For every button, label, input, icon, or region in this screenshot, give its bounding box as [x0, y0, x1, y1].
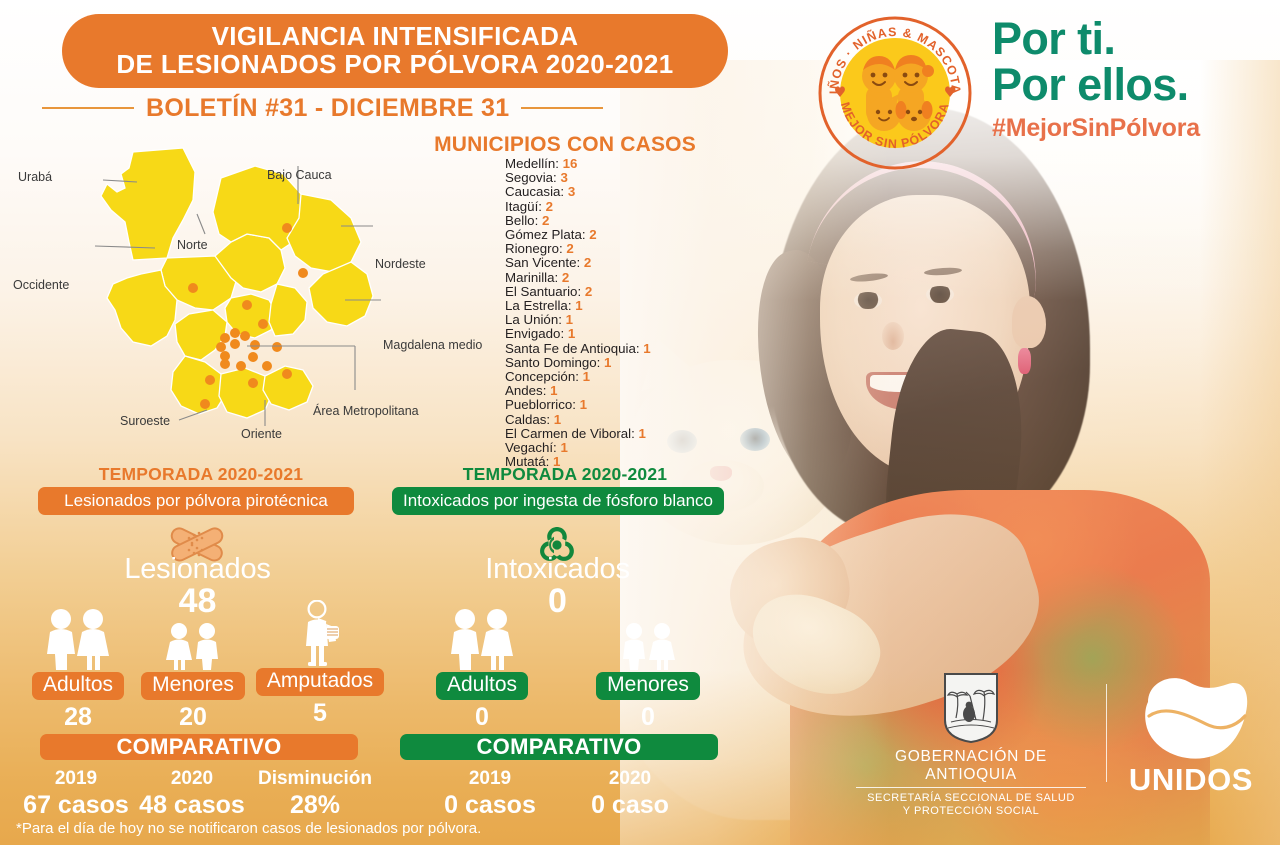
gobernacion-subtitle: SECRETARÍA SECCIONAL DE SALUD Y PROTECCI… [856, 792, 1086, 818]
poisoned-adults-label: Adultos [436, 672, 528, 700]
municipality-name: El Carmen de Viboral: [505, 426, 639, 441]
poisoned-category-minors: Menores 0 [590, 608, 706, 732]
municipality-case-count: 2 [585, 284, 592, 299]
municipality-name: La Estrella: [505, 298, 575, 313]
injured-amputees-value: 5 [255, 699, 385, 728]
gobernacion-subtitle-line2: Y PROTECCIÓN SOCIAL [856, 805, 1086, 818]
poisoned-comparative-2020: 2020 0 caso [560, 768, 700, 820]
footer-divider [1106, 684, 1107, 782]
map-label-uraba: Urabá [18, 170, 52, 184]
poisoned-comp-value-2020: 0 caso [560, 791, 700, 820]
poisoned-category-adults: Adultos 0 [424, 608, 540, 732]
municipality-case-count: 2 [566, 241, 573, 256]
municipalities-list: Medellín: 16Segovia: 3Caucasia: 3Itagüí:… [505, 157, 845, 469]
municipality-name: Rionegro: [505, 241, 566, 256]
bulletin-rule-left [42, 107, 134, 109]
injured-comparative-table: 2019 67 casos 2020 48 casos Disminución … [20, 768, 378, 820]
municipality-row: Caucasia: 3 [505, 185, 845, 199]
municipality-row: Caldas: 1 [505, 413, 845, 427]
municipality-case-count: 1 [566, 312, 573, 327]
municipality-name: Gómez Plata: [505, 227, 589, 242]
municipality-case-count: 3 [568, 184, 575, 199]
gobernacion-subtitle-line1: SECRETARÍA SECCIONAL DE SALUD [856, 792, 1086, 805]
municipality-case-count: 1 [580, 397, 587, 412]
poisoned-adults-value: 0 [424, 703, 540, 732]
municipality-row: El Santuario: 2 [505, 285, 845, 299]
poisoned-comp-year-2020: 2020 [560, 768, 700, 790]
municipality-case-count: 1 [575, 298, 582, 313]
campaign-tagline: Por ti. Por ellos. #MejorSinPólvora [992, 16, 1272, 143]
injured-adults-value: 28 [20, 703, 136, 732]
injured-comp-year-2019: 2019 [20, 768, 132, 790]
municipality-case-count: 16 [563, 156, 578, 171]
bulletin-rule-right [521, 107, 603, 109]
bulletin-row: BOLETÍN #31 - DICIEMBRE 31 [42, 92, 748, 124]
adults-pictogram [20, 608, 136, 670]
municipality-name: Segovia: [505, 170, 560, 185]
antioquia-map: Urabá Bajo Cauca Norte Nordeste Occident… [55, 138, 455, 458]
map-label-area-metropolitana: Área Metropolitana [313, 404, 419, 418]
municipality-row: Envigado: 1 [505, 327, 845, 341]
injured-comp-decrease-label: Disminución [252, 768, 378, 790]
poisoned-season-title: TEMPORADA 2020-2021 [400, 464, 730, 485]
municipality-name: Andes: [505, 383, 550, 398]
page-title-line1: VIGILANCIA INTENSIFICADA [212, 23, 579, 51]
unidos-logo: UNIDOS [1126, 672, 1256, 798]
municipality-row: Pueblorrico: 1 [505, 398, 845, 412]
bulletin-label: BOLETÍN #31 - DICIEMBRE 31 [146, 94, 509, 123]
poisoned-minors-label: Menores [596, 672, 700, 700]
injured-comp-year-2020: 2020 [132, 768, 252, 790]
municipality-row: Marinilla: 2 [505, 271, 845, 285]
map-label-norte: Norte [177, 238, 208, 252]
municipality-case-count: 1 [643, 341, 650, 356]
children-pictogram [135, 608, 251, 670]
injured-comp-value-2020: 48 casos [132, 791, 252, 820]
injured-comp-value-2019: 67 casos [20, 791, 132, 820]
unidos-label: UNIDOS [1126, 762, 1256, 798]
tagline-line2: Por ellos. [992, 62, 1272, 108]
poisoned-comp-value-2019: 0 casos [420, 791, 560, 820]
injured-adults-label: Adultos [32, 672, 124, 700]
injured-minors-label: Menores [141, 672, 245, 700]
injured-category-amputees: Amputados 5 [255, 604, 385, 728]
municipality-name: Bello: [505, 213, 542, 228]
municipality-row: Gómez Plata: 2 [505, 228, 845, 242]
antioquia-coat-of-arms-icon [943, 672, 999, 744]
municipality-case-count: 2 [546, 199, 553, 214]
municipality-case-count: 1 [639, 426, 646, 441]
title-banner: VIGILANCIA INTENSIFICADA DE LESIONADOS P… [62, 14, 728, 88]
poisoned-comparative-title: COMPARATIVO [400, 734, 718, 760]
poisoned-minors-value: 0 [590, 703, 706, 732]
municipality-row: La Estrella: 1 [505, 299, 845, 313]
municipality-case-count: 2 [589, 227, 596, 242]
map-label-nordeste: Nordeste [375, 257, 426, 271]
injured-category-adults: Adultos 28 [20, 608, 136, 732]
municipality-name: San Vicente: [505, 255, 584, 270]
municipality-row: Segovia: 3 [505, 171, 845, 185]
municipality-name: Santo Domingo: [505, 355, 604, 370]
municipality-name: Caucasia: [505, 184, 568, 199]
municipality-name: Concepción: [505, 369, 583, 384]
map-label-oriente: Oriente [241, 427, 282, 441]
gobernacion-name: GOBERNACIÓN DE ANTIOQUIA [856, 748, 1086, 788]
municipality-name: Santa Fe de Antioquia: [505, 341, 643, 356]
municipality-case-count: 1 [560, 440, 567, 455]
map-label-magdalena-medio: Magdalena medio [383, 338, 482, 352]
footnote: *Para el día de hoy no se notificaron ca… [16, 820, 481, 837]
unidos-heart-icon [1132, 672, 1250, 760]
municipality-row: San Vicente: 2 [505, 256, 845, 270]
municipality-case-count: 1 [554, 412, 561, 427]
injured-amputees-label: Amputados [256, 668, 384, 696]
municipality-row: El Carmen de Viboral: 1 [505, 427, 845, 441]
injured-category-minors: Menores 20 [135, 608, 251, 732]
municipality-row: Vegachí: 1 [505, 441, 845, 455]
municipality-name: Medellín: [505, 156, 563, 171]
municipality-name: Marinilla: [505, 270, 562, 285]
municipality-row: Medellín: 16 [505, 157, 845, 171]
municipality-case-count: 1 [568, 326, 575, 341]
map-label-suroeste: Suroeste [120, 414, 170, 428]
page-title-line2: DE LESIONADOS POR PÓLVORA 2020-2021 [116, 51, 673, 79]
children-pictogram [590, 608, 706, 670]
tagline-line1: Por ti. [992, 16, 1272, 62]
adults-pictogram [424, 608, 540, 670]
municipality-case-count: 1 [583, 369, 590, 384]
municipality-row: Bello: 2 [505, 214, 845, 228]
municipality-name: La Unión: [505, 312, 566, 327]
municipality-case-count: 2 [542, 213, 549, 228]
injured-comp-decrease-value: 28% [252, 791, 378, 820]
poisoned-comp-year-2019: 2019 [420, 768, 560, 790]
municipality-case-count: 1 [550, 383, 557, 398]
municipality-name: Caldas: [505, 412, 554, 427]
injured-comparative-decrease: Disminución 28% [252, 768, 378, 820]
injured-season-title: TEMPORADA 2020-2021 [36, 464, 366, 485]
mejor-sin-polvora-seal: NIÑOS · NIÑAS & MASCOTAS MEJOR SIN PÓLVO… [816, 14, 974, 172]
municipality-case-count: 1 [604, 355, 611, 370]
municipality-name: Vegachí: [505, 440, 560, 455]
municipality-row: La Unión: 1 [505, 313, 845, 327]
municipality-case-count: 2 [562, 270, 569, 285]
poisoned-comparative-table: 2019 0 casos 2020 0 caso [420, 768, 700, 820]
municipality-case-count: 2 [584, 255, 591, 270]
poisoned-subtitle-pill: Intoxicados por ingesta de fósforo blanc… [392, 487, 724, 515]
municipality-row: Santa Fe de Antioquia: 1 [505, 342, 845, 356]
injured-comparative-2020: 2020 48 casos [132, 768, 252, 820]
municipality-case-count: 3 [560, 170, 567, 185]
poisoned-comparative-2019: 2019 0 casos [420, 768, 560, 820]
municipality-name: Itagüí: [505, 199, 546, 214]
map-label-bajo-cauca: Bajo Cauca [267, 168, 332, 182]
injured-comparative-title: COMPARATIVO [40, 734, 358, 760]
gobernacion-logo: GOBERNACIÓN DE ANTIOQUIA SECRETARÍA SECC… [856, 672, 1086, 818]
municipality-row: Itagüí: 2 [505, 200, 845, 214]
municipalities-title: MUNICIPIOS CON CASOS [425, 133, 705, 157]
injured-subtitle-pill: Lesionados por pólvora pirotécnica [38, 487, 354, 515]
municipality-name: Pueblorrico: [505, 397, 580, 412]
map-label-occidente: Occidente [13, 278, 69, 292]
injured-comparative-2019: 2019 67 casos [20, 768, 132, 820]
injured-minors-value: 20 [135, 703, 251, 732]
infographic-poster: VIGILANCIA INTENSIFICADA DE LESIONADOS P… [0, 0, 1280, 845]
municipality-row: Concepción: 1 [505, 370, 845, 384]
municipality-name: El Santuario: [505, 284, 585, 299]
municipality-row: Rionegro: 2 [505, 242, 845, 256]
municipality-name: Envigado: [505, 326, 568, 341]
amputee-pictogram [255, 604, 385, 666]
municipality-row: Andes: 1 [505, 384, 845, 398]
municipality-row: Santo Domingo: 1 [505, 356, 845, 370]
campaign-hashtag: #MejorSinPólvora [992, 114, 1272, 143]
